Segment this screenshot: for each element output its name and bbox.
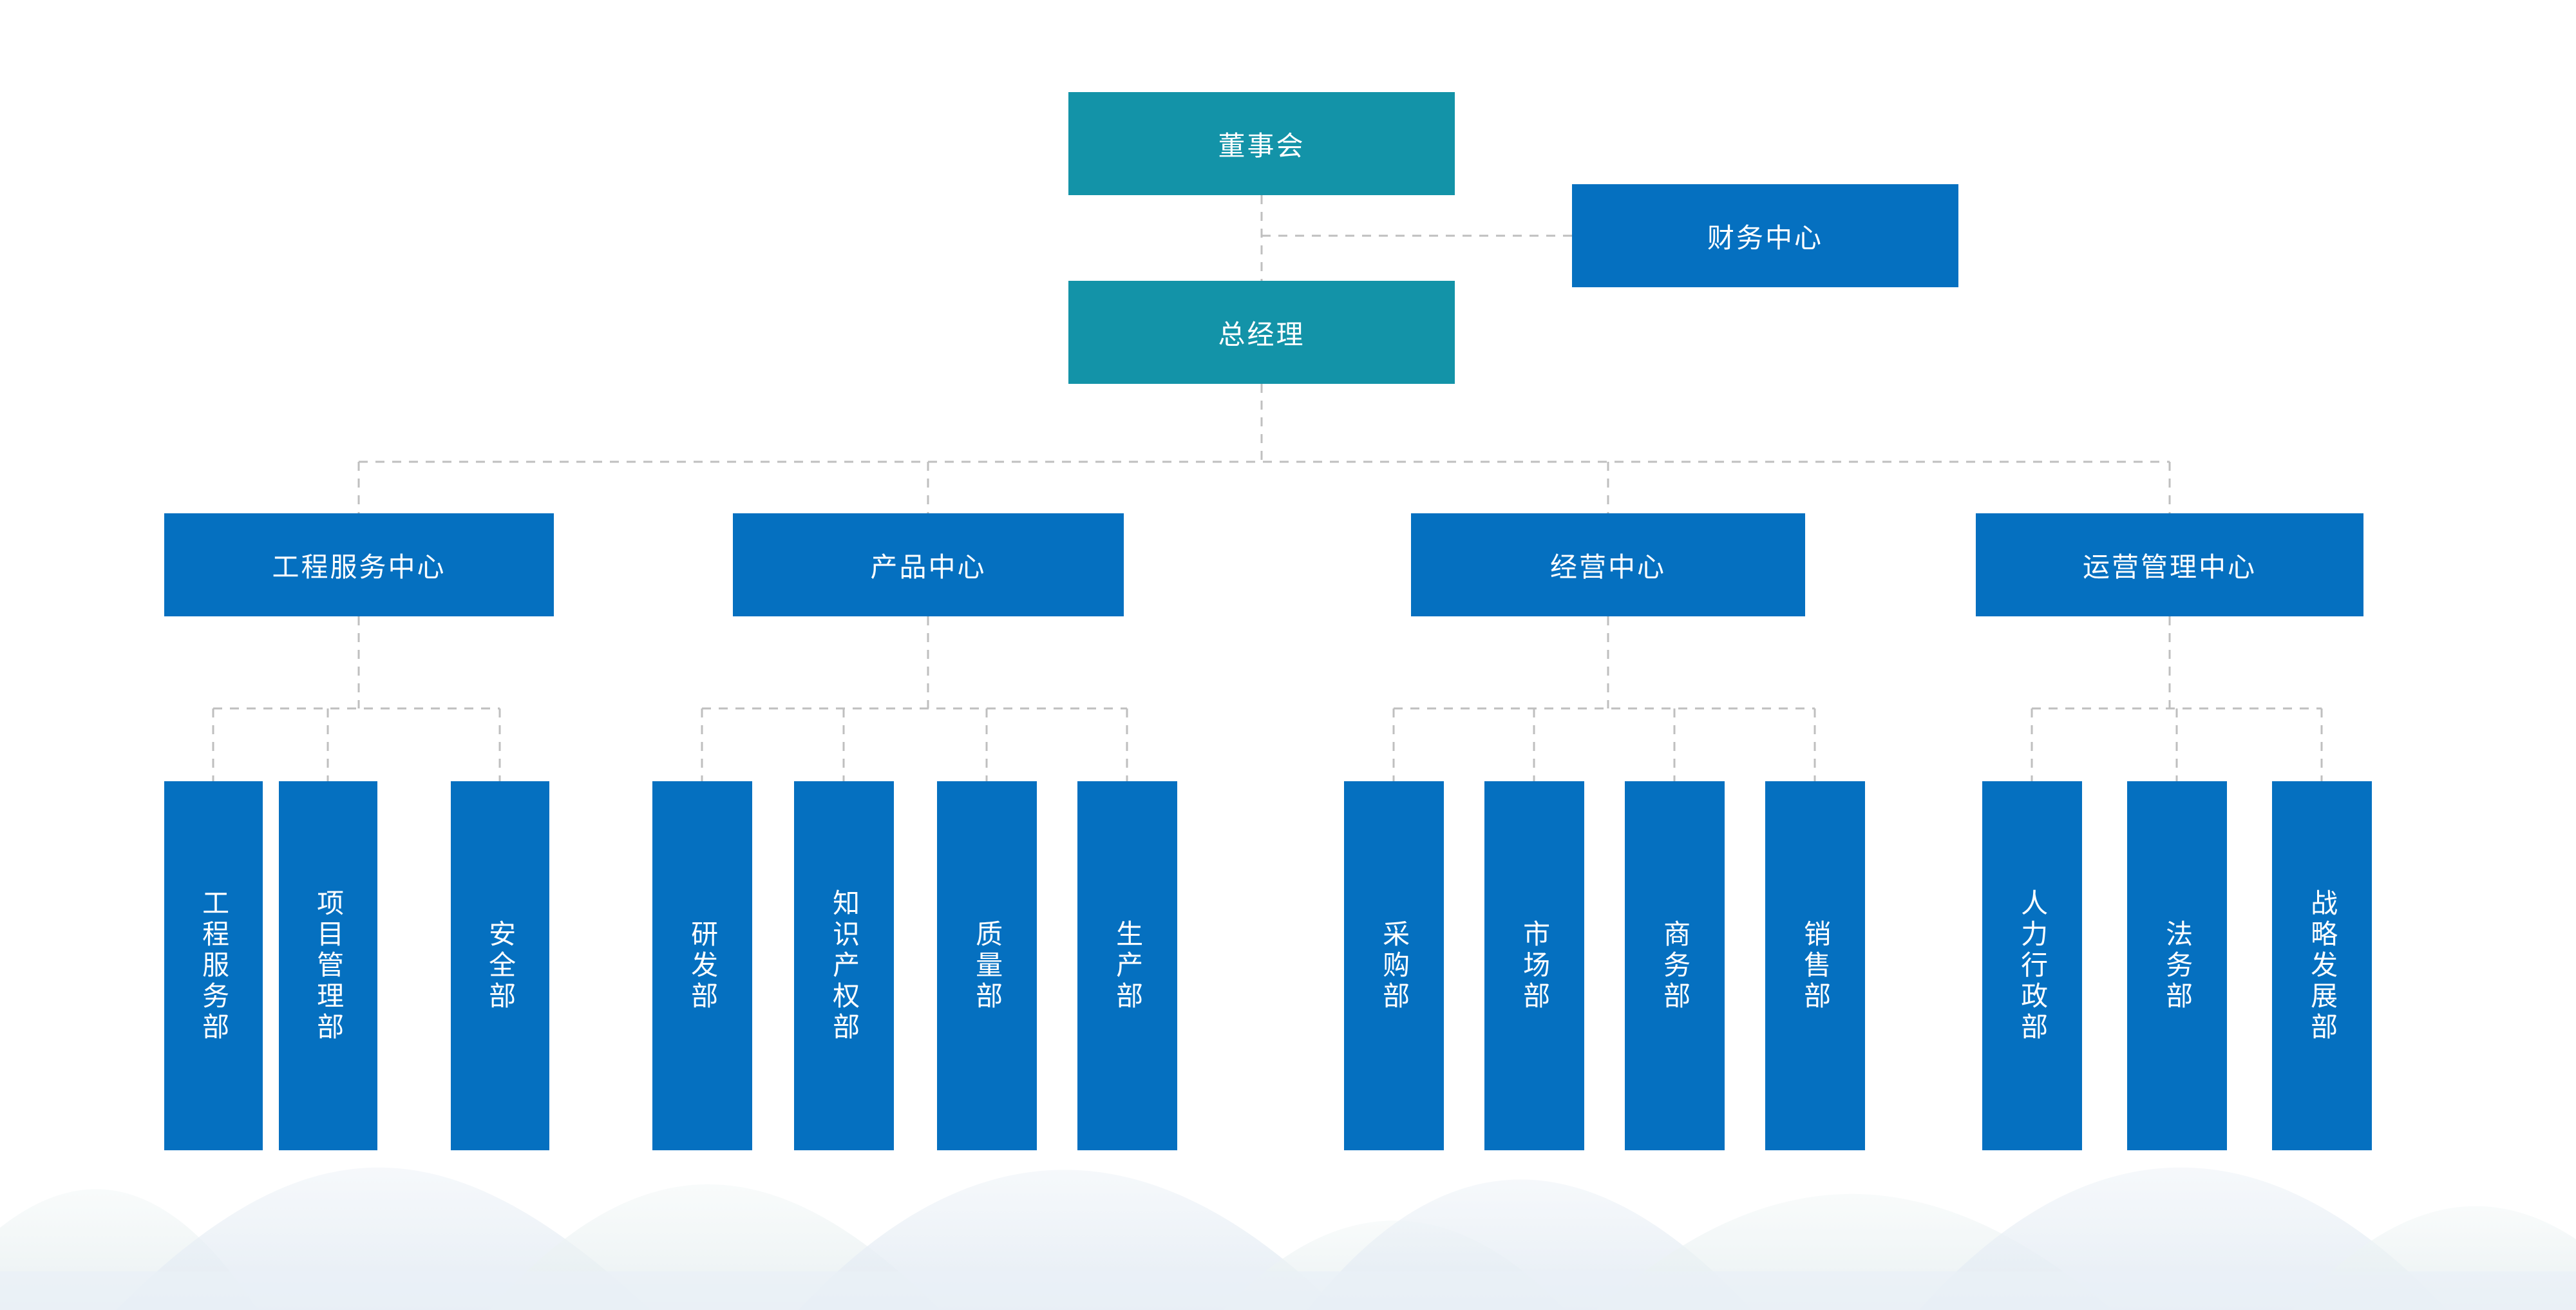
node-label: 市场部 — [1519, 920, 1549, 1012]
node-strategy-development-dept[interactable]: 战略发展部 — [2272, 781, 2372, 1150]
node-finance-center[interactable]: 财务中心 — [1572, 184, 1958, 287]
node-label: 产品中心 — [870, 546, 986, 585]
node-label: 研发部 — [687, 920, 717, 1012]
node-label: 法务部 — [2161, 920, 2192, 1012]
node-sales-dept[interactable]: 销售部 — [1765, 781, 1865, 1150]
node-business-center[interactable]: 经营中心 — [1411, 513, 1805, 616]
node-safety-dept[interactable]: 安全部 — [451, 781, 549, 1150]
org-chart-canvas: 董事会 总经理 财务中心 工程服务中心 产品中心 经营中心 运营管理中心 工程服… — [0, 0, 2576, 1310]
node-label: 经营中心 — [1550, 546, 1666, 585]
node-quality-dept[interactable]: 质量部 — [937, 781, 1037, 1150]
node-product-center[interactable]: 产品中心 — [733, 513, 1124, 616]
node-label: 销售部 — [1799, 920, 1830, 1012]
node-label: 工程服务部 — [198, 889, 229, 1043]
node-procurement-dept[interactable]: 采购部 — [1344, 781, 1444, 1150]
node-hr-admin-dept[interactable]: 人力行政部 — [1982, 781, 2082, 1150]
node-label: 董事会 — [1218, 124, 1305, 164]
node-label: 生产部 — [1112, 920, 1142, 1012]
node-commerce-dept[interactable]: 商务部 — [1625, 781, 1725, 1150]
node-label: 工程服务中心 — [272, 546, 446, 585]
node-label: 运营管理中心 — [2083, 546, 2257, 585]
node-intellectual-property-dept[interactable]: 知识产权部 — [794, 781, 894, 1150]
node-general-manager[interactable]: 总经理 — [1068, 281, 1455, 384]
node-label: 战略发展部 — [2306, 889, 2337, 1043]
node-label: 人力行政部 — [2016, 889, 2047, 1043]
node-engineering-service-center[interactable]: 工程服务中心 — [164, 513, 554, 616]
node-marketing-dept[interactable]: 市场部 — [1484, 781, 1584, 1150]
node-label: 安全部 — [484, 920, 515, 1012]
node-production-dept[interactable]: 生产部 — [1077, 781, 1177, 1150]
node-project-management-dept[interactable]: 项目管理部 — [279, 781, 377, 1150]
node-label: 质量部 — [971, 920, 1002, 1012]
node-board-of-directors[interactable]: 董事会 — [1068, 92, 1455, 195]
node-label: 财务中心 — [1707, 216, 1823, 256]
node-label: 项目管理部 — [312, 889, 343, 1043]
node-label: 总经理 — [1218, 313, 1305, 352]
node-operations-management-center[interactable]: 运营管理中心 — [1976, 513, 2363, 616]
node-label: 知识产权部 — [828, 889, 859, 1043]
node-legal-dept[interactable]: 法务部 — [2127, 781, 2227, 1150]
node-rnd-dept[interactable]: 研发部 — [652, 781, 752, 1150]
node-label: 采购部 — [1378, 920, 1409, 1012]
node-engineering-service-dept[interactable]: 工程服务部 — [164, 781, 263, 1150]
node-label: 商务部 — [1659, 920, 1690, 1012]
